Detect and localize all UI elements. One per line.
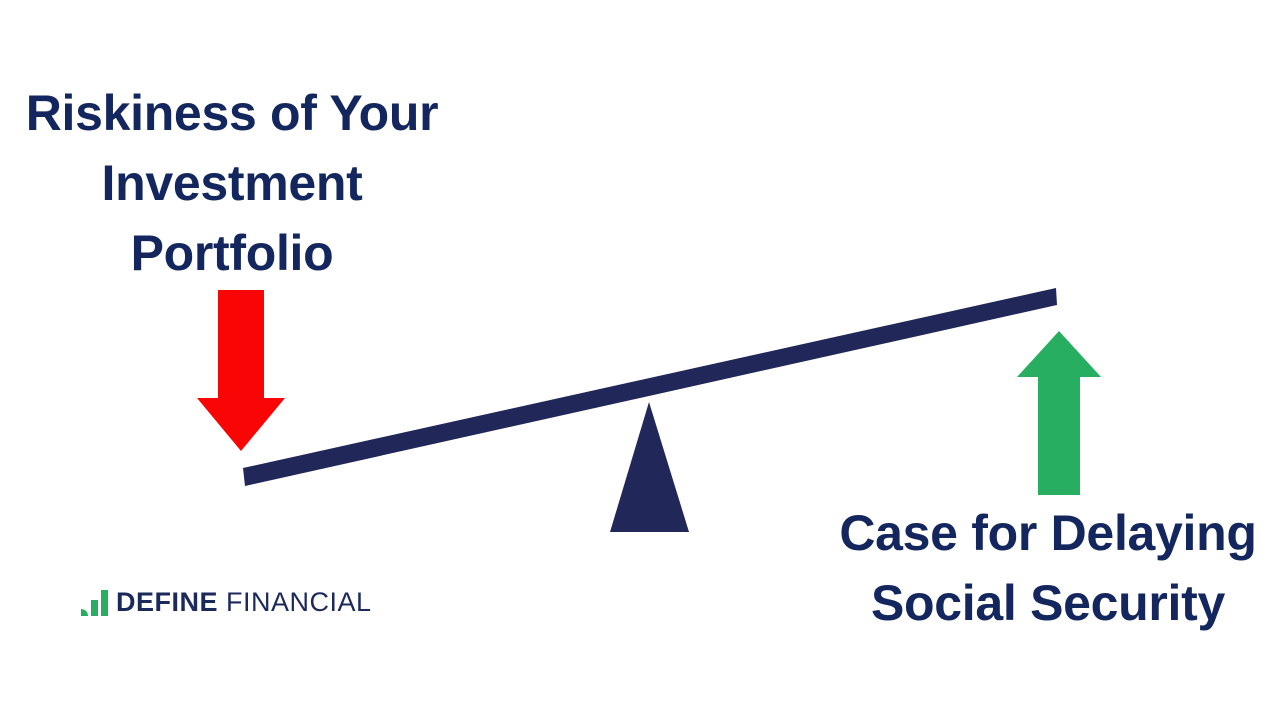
logo-word-define: DEFINE xyxy=(116,587,218,617)
logo-word-financial: FINANCIAL xyxy=(226,587,372,617)
define-financial-logo: DEFINE FINANCIAL xyxy=(80,584,372,620)
red-down-arrow-icon xyxy=(197,290,285,451)
seesaw-fulcrum-triangle xyxy=(610,402,689,532)
green-up-arrow-icon xyxy=(1017,331,1101,495)
slide-canvas: Riskiness of Your Investment Portfolio C… xyxy=(0,0,1280,720)
green-bar-chart-icon xyxy=(80,587,110,617)
